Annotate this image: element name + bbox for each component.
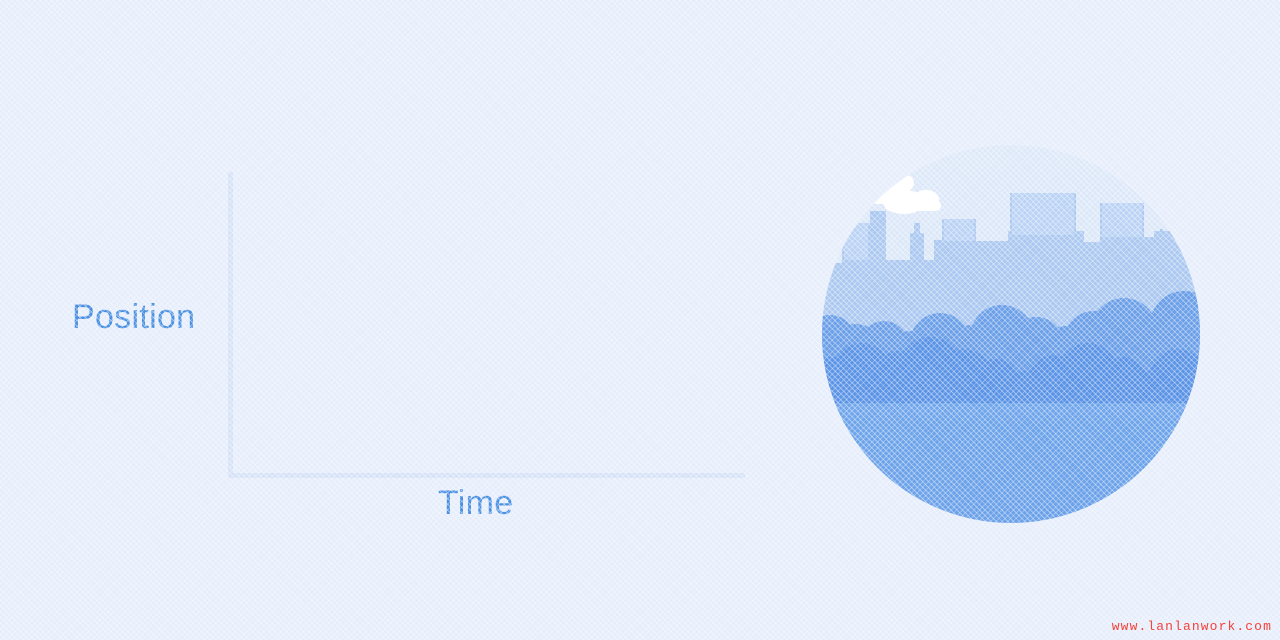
y-axis-line [228,172,233,478]
x-axis-line [228,473,745,478]
watermark-text: www.lanlanwork.com [1112,619,1272,634]
city-skyline-circle-illustration [822,145,1200,523]
y-axis-label: Position [72,298,195,337]
water-surface [822,403,1200,523]
water-shoreline-strip [822,403,1200,406]
x-axis-label: Time [438,484,514,523]
slide-canvas: Position Time [0,0,1280,640]
